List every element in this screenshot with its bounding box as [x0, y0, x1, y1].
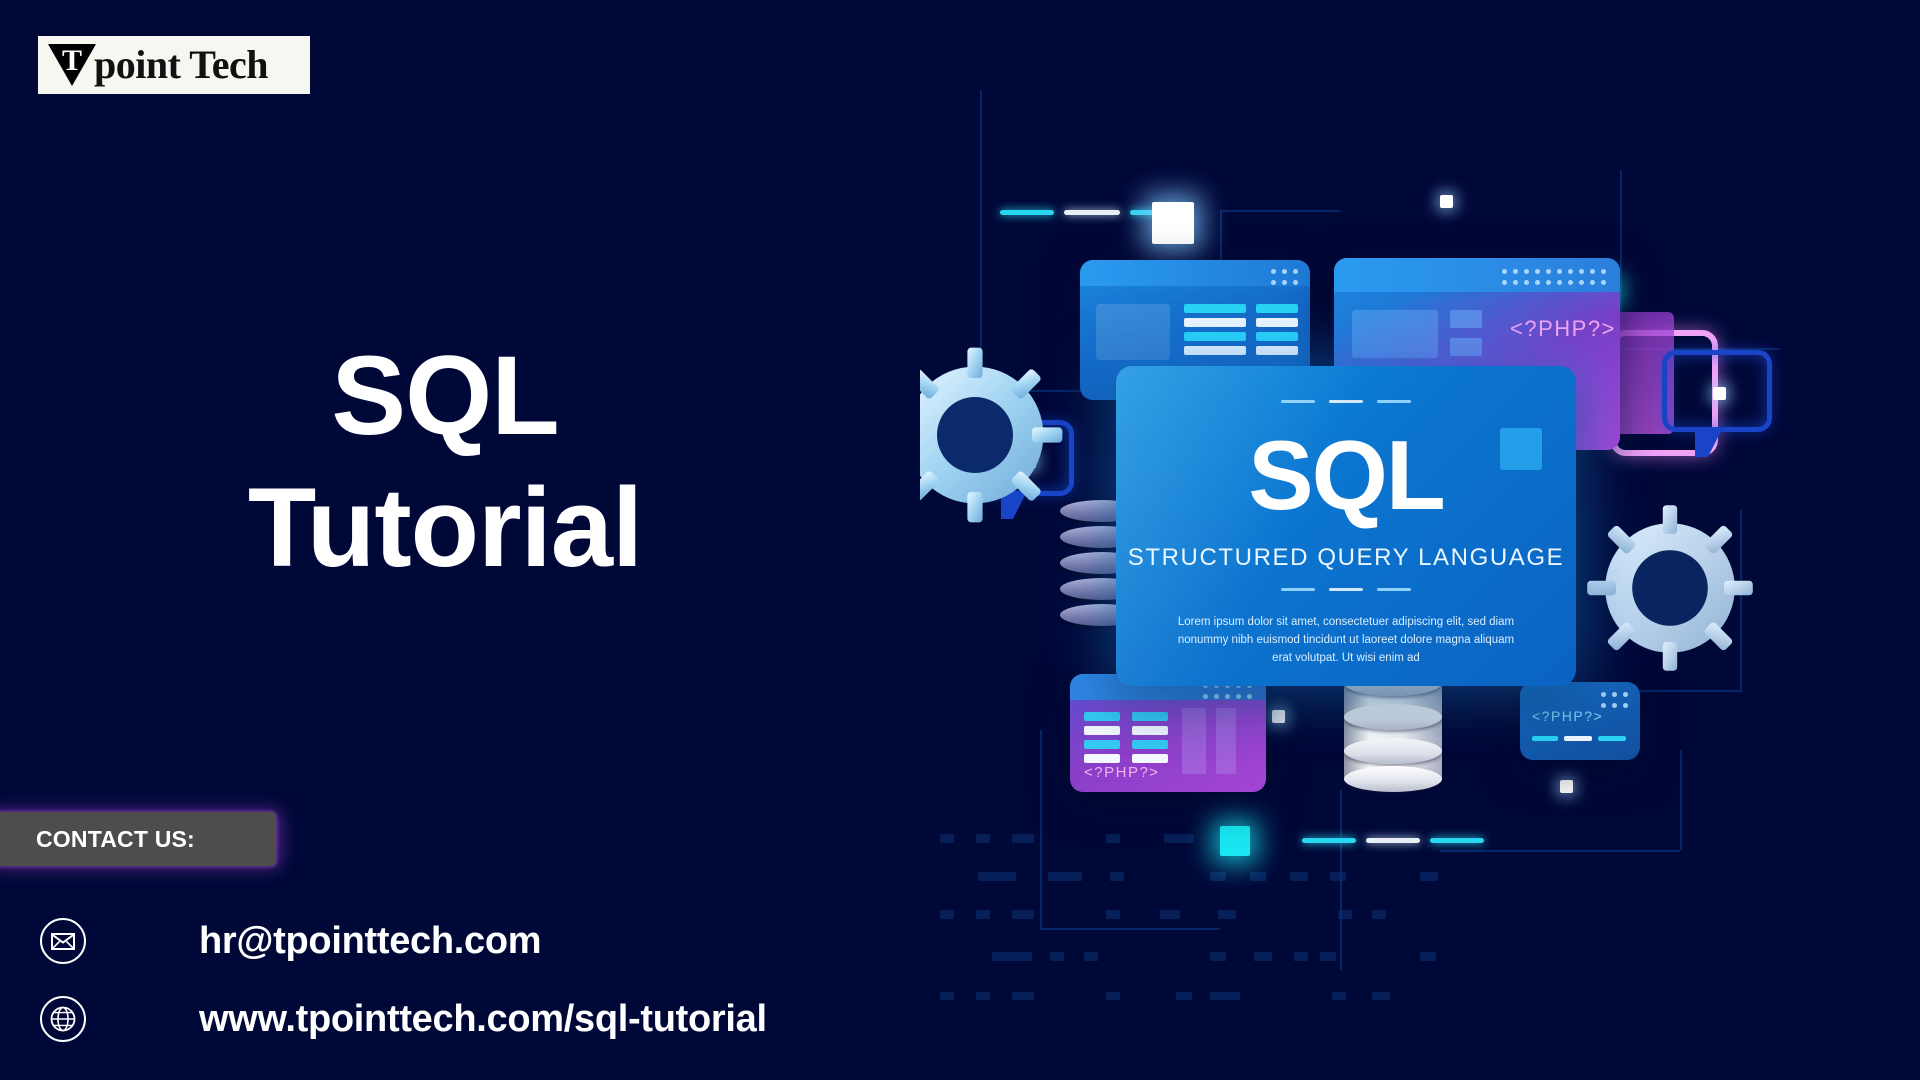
sql-card-title: SQL [1116, 426, 1576, 524]
sql-card-subtitle: STRUCTURED QUERY LANGUAGE [1116, 544, 1576, 572]
logo-wordmark: point Tech [94, 45, 268, 85]
window-card-php-right: <?PHP?> [1520, 682, 1640, 760]
glow-square-small [1560, 780, 1573, 793]
glow-square-small [1440, 195, 1453, 208]
speech-bubble-right [1662, 350, 1772, 432]
glow-square-small [1272, 710, 1285, 723]
page-title-line1: SQL [0, 330, 890, 462]
page-title-line2: Tutorial [0, 462, 890, 594]
card-dash-row-bottom [1116, 588, 1576, 591]
decor-dash [1064, 210, 1120, 215]
logo-letter: T [48, 44, 96, 78]
contact-us-label: CONTACT US: [36, 826, 195, 853]
decor-dash [1302, 838, 1356, 843]
window-card-php-bottom-left: <?PHP?> [1070, 674, 1266, 792]
decor-dash [1430, 838, 1484, 843]
sql-feature-card: SQL STRUCTURED QUERY LANGUAGE Lorem ipsu… [1116, 366, 1576, 686]
page-title: SQL Tutorial [0, 330, 890, 594]
gear-icon-right [1580, 498, 1760, 683]
decor-dash [1000, 210, 1054, 215]
logo-triangle-icon: T [48, 42, 96, 88]
globe-icon [40, 996, 86, 1042]
glow-square-white [1152, 202, 1194, 244]
php-label: <?PHP?> [1532, 708, 1603, 724]
envelope-icon [40, 918, 86, 964]
hero-illustration: <?PHP?> <?PHP?> <?PHP?> [920, 90, 1832, 1000]
decor-dash [1366, 838, 1420, 843]
glow-square-cyan [1220, 826, 1250, 856]
contact-website-value: www.tpointtech.com/sql-tutorial [199, 998, 767, 1041]
contact-row-website[interactable]: www.tpointtech.com/sql-tutorial [40, 996, 767, 1042]
contact-email-value: hr@tpointtech.com [199, 920, 541, 963]
php-label: <?PHP?> [1510, 316, 1616, 342]
sql-card-body-text: Lorem ipsum dolor sit amet, consectetuer… [1168, 614, 1524, 667]
card-dash-row-top [1116, 400, 1576, 403]
contact-row-email[interactable]: hr@tpointtech.com [40, 918, 541, 964]
gear-icon-left [920, 340, 1070, 535]
brand-logo[interactable]: T point Tech [38, 36, 310, 94]
php-label: <?PHP?> [1084, 764, 1160, 781]
contact-us-banner: CONTACT US: [0, 812, 276, 866]
